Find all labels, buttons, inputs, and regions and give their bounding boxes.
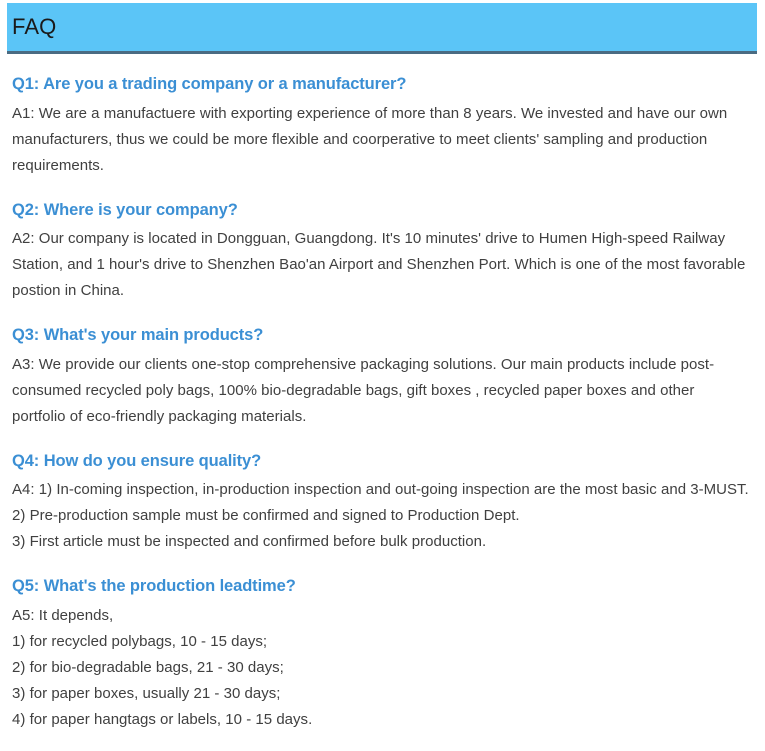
- faq-question-q1: Q1: Are you a trading company or a manuf…: [12, 72, 750, 97]
- faq-answer-line: 3) First article must be inspected and c…: [12, 529, 750, 555]
- faq-answer-line: 1) for recycled polybags, 10 - 15 days;: [12, 629, 750, 655]
- faq-answer-q1: A1: We are a manufactuere with exporting…: [12, 101, 750, 179]
- faq-answer-line: 3) for paper boxes, usually 21 - 30 days…: [12, 681, 750, 707]
- faq-entry-q2: Q2: Where is your company? A2: Our compa…: [12, 198, 750, 305]
- faq-entry-q5: Q5: What's the production leadtime? A5: …: [12, 574, 750, 732]
- faq-header-banner: FAQ: [7, 3, 757, 54]
- faq-answer-line: A4: 1) In-coming inspection, in-producti…: [12, 477, 750, 503]
- faq-entry-q1: Q1: Are you a trading company or a manuf…: [12, 72, 750, 179]
- page-title: FAQ: [12, 16, 56, 38]
- faq-answer-line: 4) for paper hangtags or labels, 10 - 15…: [12, 707, 750, 733]
- faq-answer-line: 2) Pre-production sample must be confirm…: [12, 503, 750, 529]
- faq-answer-line: A2: Our company is located in Dongguan, …: [12, 226, 750, 304]
- faq-entry-q3: Q3: What's your main products? A3: We pr…: [12, 323, 750, 430]
- faq-content: Q1: Are you a trading company or a manuf…: [0, 72, 765, 733]
- faq-answer-line: 2) for bio-degradable bags, 21 - 30 days…: [12, 655, 750, 681]
- faq-answer-q3: A3: We provide our clients one-stop comp…: [12, 352, 750, 430]
- faq-answer-line: A3: We provide our clients one-stop comp…: [12, 352, 750, 430]
- faq-question-q4: Q4: How do you ensure quality?: [12, 449, 750, 474]
- faq-question-q2: Q2: Where is your company?: [12, 198, 750, 223]
- faq-answer-q5: A5: It depends, 1) for recycled polybags…: [12, 603, 750, 733]
- faq-answer-q4: A4: 1) In-coming inspection, in-producti…: [12, 477, 750, 555]
- faq-answer-line: A1: We are a manufactuere with exporting…: [12, 101, 750, 179]
- faq-page: FAQ Q1: Are you a trading company or a m…: [0, 3, 765, 751]
- faq-question-q5: Q5: What's the production leadtime?: [12, 574, 750, 599]
- faq-question-q3: Q3: What's your main products?: [12, 323, 750, 348]
- faq-entry-q4: Q4: How do you ensure quality? A4: 1) In…: [12, 449, 750, 556]
- faq-answer-line: A5: It depends,: [12, 603, 750, 629]
- faq-answer-q2: A2: Our company is located in Dongguan, …: [12, 226, 750, 304]
